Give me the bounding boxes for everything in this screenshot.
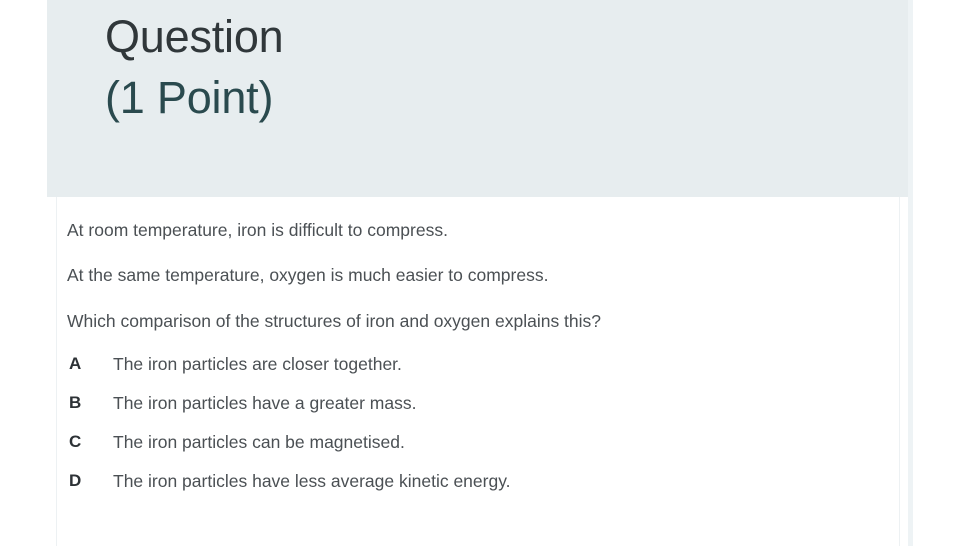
answer-option-c[interactable]: C The iron particles can be magnetised.	[67, 431, 887, 470]
answer-option-d[interactable]: D The iron particles have less average k…	[67, 470, 887, 509]
page-viewport: Question (1 Point) At room temperature, …	[0, 0, 954, 546]
answer-option-b[interactable]: B The iron particles have a greater mass…	[67, 392, 887, 431]
option-letter-a: A	[69, 353, 81, 375]
page-title: Question	[105, 8, 284, 66]
option-text-a: The iron particles are closer together.	[113, 353, 402, 375]
question-stem-line-1: At room temperature, iron is difficult t…	[67, 219, 448, 241]
question-stem-line-3: Which comparison of the structures of ir…	[67, 310, 601, 332]
option-letter-d: D	[69, 470, 81, 492]
question-points-label: (1 Point)	[105, 69, 273, 127]
option-letter-b: B	[69, 392, 81, 414]
vertical-scrollbar-track[interactable]	[932, 0, 954, 546]
header-right-edge-strip	[908, 0, 913, 546]
question-stem-line-2: At the same temperature, oxygen is much …	[67, 264, 548, 286]
option-letter-c: C	[69, 431, 81, 453]
answer-options-list: A The iron particles are closer together…	[67, 353, 887, 509]
question-content-card: At room temperature, iron is difficult t…	[56, 197, 900, 546]
option-text-b: The iron particles have a greater mass.	[113, 392, 416, 414]
question-header-banner: Question (1 Point)	[47, 0, 910, 197]
answer-option-a[interactable]: A The iron particles are closer together…	[67, 353, 887, 392]
option-text-d: The iron particles have less average kin…	[113, 470, 511, 492]
option-text-c: The iron particles can be magnetised.	[113, 431, 405, 453]
